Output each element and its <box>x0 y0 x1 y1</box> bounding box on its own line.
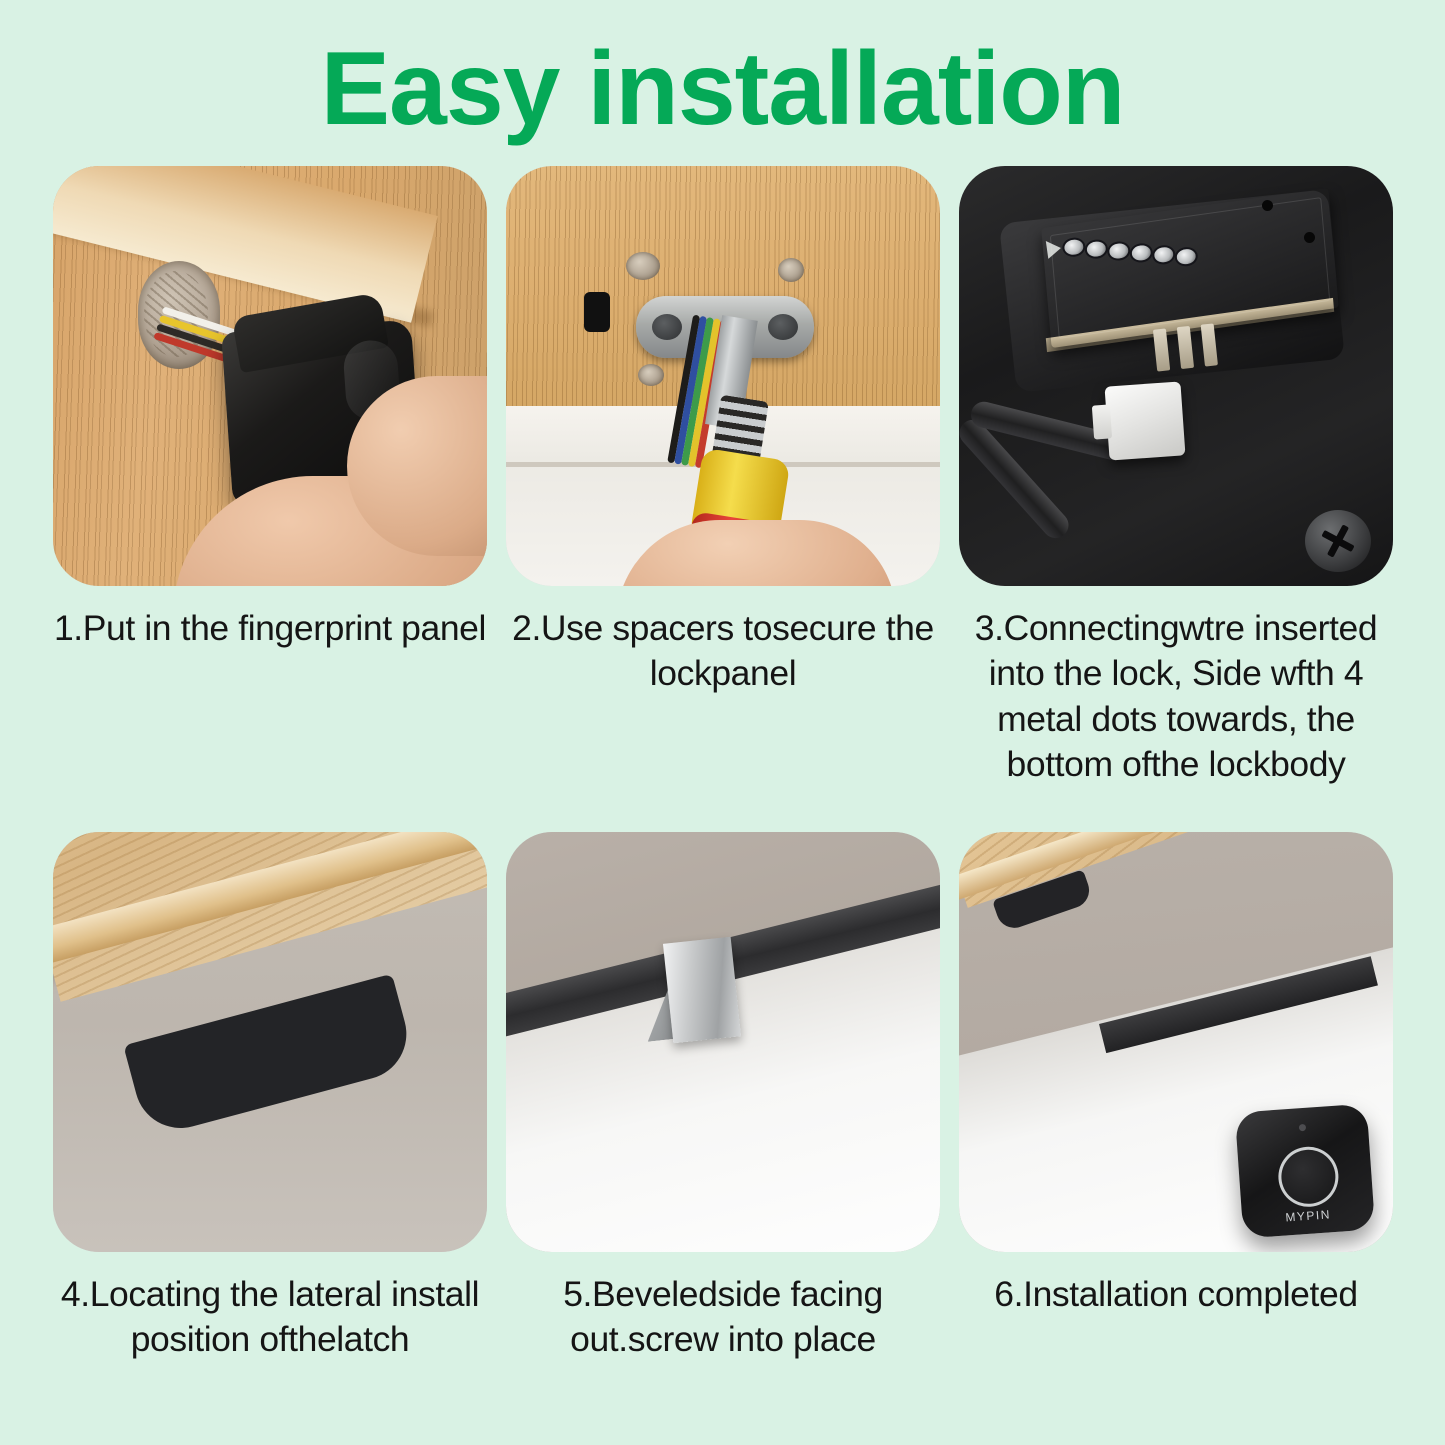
contact-dot <box>1106 240 1131 262</box>
pilot-hole <box>1304 232 1315 243</box>
pcb-pin <box>1177 326 1194 369</box>
step-4-photo <box>53 832 487 1252</box>
contact-dot <box>1061 236 1086 258</box>
screw-hole <box>638 364 664 386</box>
step-6-caption: 6.Installation completed <box>959 1272 1393 1317</box>
step-1-cell: 1.Put in the fingerprint panel <box>53 166 487 651</box>
screw-head <box>1305 510 1371 572</box>
step-6-photo: MYPIN <box>959 832 1393 1252</box>
screw-hole <box>778 258 804 282</box>
orientation-arrow-icon <box>1046 239 1062 259</box>
pcb-pin <box>1201 323 1218 366</box>
fingerprint-module: MYPIN <box>1235 1104 1375 1239</box>
latch-plate <box>1212 1008 1255 1055</box>
fingerprint-sensor-ring-icon <box>1276 1144 1340 1208</box>
step-4-cell: 4.Locating the lateral install position … <box>53 832 487 1363</box>
step-4-caption: 4.Locating the lateral install position … <box>53 1272 487 1363</box>
contact-dot <box>1151 244 1176 266</box>
contact-dot <box>1084 238 1109 260</box>
step-5-cell: 5.Beveledside facing out.screw into plac… <box>506 832 940 1363</box>
indicator-led-icon <box>1299 1124 1306 1131</box>
step-5-caption: 5.Beveledside facing out.screw into plac… <box>506 1272 940 1363</box>
step-2-photo <box>506 166 940 586</box>
steps-row-1: 1.Put in the fingerprint panel <box>53 166 1393 832</box>
steps-row-2: 4.Locating the lateral install position … <box>53 832 1393 1444</box>
white-jst-connector <box>1105 381 1186 460</box>
infographic-page: Easy installation <box>0 0 1445 1445</box>
step-1-photo <box>53 166 487 586</box>
step-3-caption: 3.Connectingwtre inserted into the lock,… <box>959 606 1393 788</box>
step-2-caption: 2.Use spacers tosecure the lockpanel <box>506 606 940 697</box>
brand-label: MYPIN <box>1242 1204 1375 1227</box>
step-2-cell: 2.Use spacers tosecure the lockpanel <box>506 166 940 697</box>
bracket-slot <box>584 292 610 332</box>
contact-dot <box>1129 242 1154 264</box>
steps-grid: 1.Put in the fingerprint panel <box>53 166 1393 1444</box>
pcb-pins <box>1153 322 1227 373</box>
step-3-photo <box>959 166 1393 586</box>
step-3-cell: 3.Connectingwtre inserted into the lock,… <box>959 166 1393 788</box>
screw-hole <box>626 252 660 280</box>
pilot-hole <box>1262 200 1273 211</box>
step-1-caption: 1.Put in the fingerprint panel <box>53 606 487 651</box>
page-title: Easy installation <box>0 32 1445 146</box>
beveled-latch-plate <box>663 937 741 1044</box>
step-6-cell: MYPIN 6.Installation completed <box>959 832 1393 1317</box>
step-5-photo <box>506 832 940 1252</box>
